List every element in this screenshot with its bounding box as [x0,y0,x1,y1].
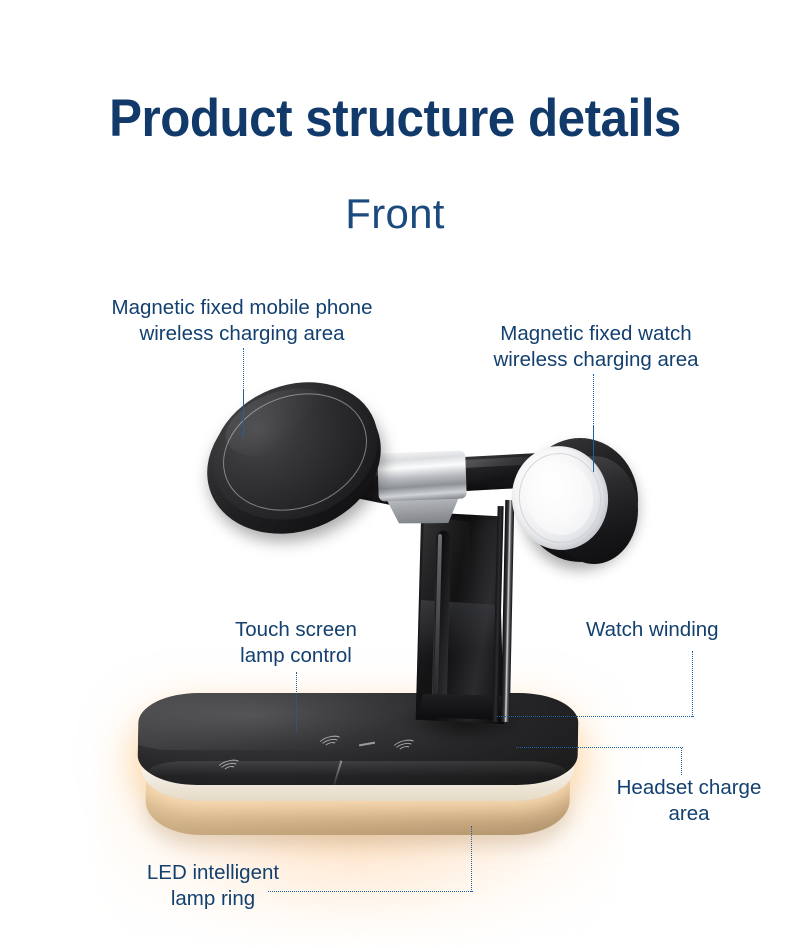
leader-line-watch-winding-vertical [692,651,693,717]
callout-line-2: lamp control [205,643,387,669]
callout-watch-wireless-charging: Magnetic fixed watch wireless charging a… [448,321,744,372]
stem-foot [418,694,504,720]
leader-line-phone-charging-tip [243,390,244,438]
chrome-collar [377,450,467,501]
callout-touch-screen-lamp-control: Touch screen lamp control [205,617,387,668]
callout-line-2: wireless charging area [448,347,744,373]
callout-line-1: Watch winding [586,617,761,643]
leader-line-touch-lamp [296,672,297,732]
leader-line-watch-charging-tip [593,426,594,472]
callout-line-1: Headset charge [600,775,778,801]
leader-line-headset-horizontal [516,747,683,748]
base-top-edge-highlight [148,761,566,783]
leader-line-phone-charging [243,348,244,390]
callout-line-1: LED intelligent [118,860,308,886]
infographic-canvas: Product structure details Front [0,0,790,948]
callout-line-2: wireless charging area [62,321,422,347]
leader-line-watch-winding-horizontal [497,716,694,717]
callout-phone-wireless-charging: Magnetic fixed mobile phone wireless cha… [62,295,422,346]
phone-charging-puck [205,381,383,531]
callout-line-1: Magnetic fixed mobile phone [62,295,422,321]
callout-led-intelligent-lamp-ring: LED intelligent lamp ring [118,860,308,911]
leader-line-headset-vertical [681,748,682,775]
callout-headset-charge-area: Headset charge area [600,775,778,826]
callout-line-2: lamp ring [118,886,308,912]
callout-line-2: area [600,801,778,827]
watch-charging-puck [512,432,640,566]
callout-line-1: Touch screen [205,617,387,643]
callout-line-1: Magnetic fixed watch [448,321,744,347]
leader-line-led-ring-vertical [471,826,472,892]
leader-line-watch-charging [593,374,594,426]
callout-watch-winding: Watch winding [586,617,761,643]
